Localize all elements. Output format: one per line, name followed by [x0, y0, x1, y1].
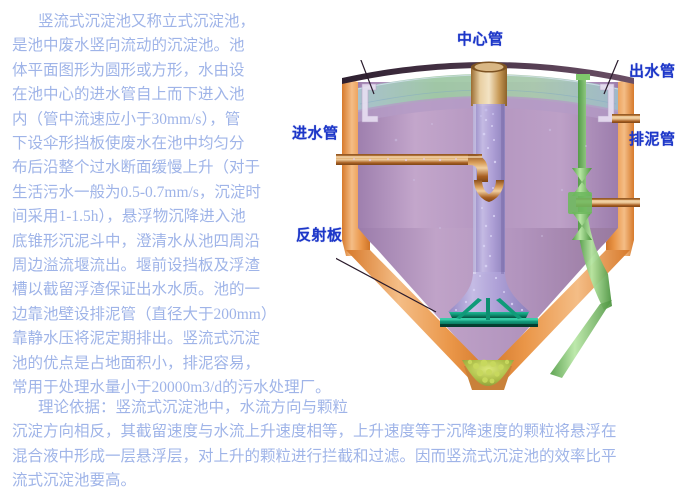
text-line: 布后沿整个过水断面缓慢上升（对于	[12, 156, 342, 180]
paragraph-theory: 理论依据：竖流式沉淀池中，水流方向与颗粒 沉淀方向相反，其截留速度与水流上升速度…	[12, 396, 699, 494]
text-line: 内（管中流速应小于30mm/s），管	[12, 108, 342, 132]
text-line: 池的优点是占地面积小，排泥容易，	[12, 352, 342, 376]
label-center-pipe: 中心管	[457, 28, 504, 49]
text-line: 边靠池壁设排泥管（直径大于200mm）	[12, 303, 342, 327]
text-line: 竖流式沉淀池又称立式沉淀池，	[38, 13, 255, 30]
text-line: 在池中心的进水管自上而下进入池	[12, 83, 342, 107]
text-line: 槽以截留浮渣保证出水水质。池的一	[12, 278, 342, 302]
text-line: 底锥形沉泥斗中，澄清水从池四周沿	[12, 230, 342, 254]
outlet-pipe	[612, 114, 640, 123]
text-line: 下设伞形挡板使废水在池中均匀分	[12, 132, 342, 156]
text-line: 流式沉淀池要高。	[12, 469, 699, 493]
text-line: 靠静水压将泥定期排出。竖流式沉淀	[12, 327, 342, 351]
text-line: 生活污水一般为0.5-0.7mm/s，沉淀时	[12, 181, 342, 205]
text-line: 间采用1-1.5h），悬浮物沉降进入池	[12, 205, 342, 229]
text-line: 是池中废水竖向流动的沉淀池。池	[12, 34, 342, 58]
sludge-valve-hub	[568, 192, 592, 214]
label-sludge-pipe: 排泥管	[629, 128, 676, 149]
paragraph-description: 竖流式沉淀池又称立式沉淀池， 是池中废水竖向流动的沉淀池。池 体平面图形为圆形或…	[12, 10, 342, 401]
label-outlet-pipe: 出水管	[629, 60, 676, 81]
text-line: 周边溢流堰流出。堰前设挡板及浮渣	[12, 254, 342, 278]
text-line: 混合液中形成一层悬浮层，对上升的颗粒进行拦截和过滤。因而竖流式沉淀池的效率比平	[12, 445, 699, 469]
image-canvas: 中心管 进水管 反射板 出水管 排泥管 竖流式沉淀池又称立式沉淀池， 是池中废水…	[0, 0, 699, 480]
text-line: 理论依据：竖流式沉淀池中，水流方向与颗粒	[38, 399, 348, 416]
vertical-settling-tank-diagram	[336, 60, 640, 410]
text-line: 体平面图形为圆形或方形，水由设	[12, 59, 342, 83]
text-line: 沉淀方向相反，其截留速度与水流上升速度相等，上升速度等于沉降速度的颗粒将悬浮在	[12, 420, 699, 444]
